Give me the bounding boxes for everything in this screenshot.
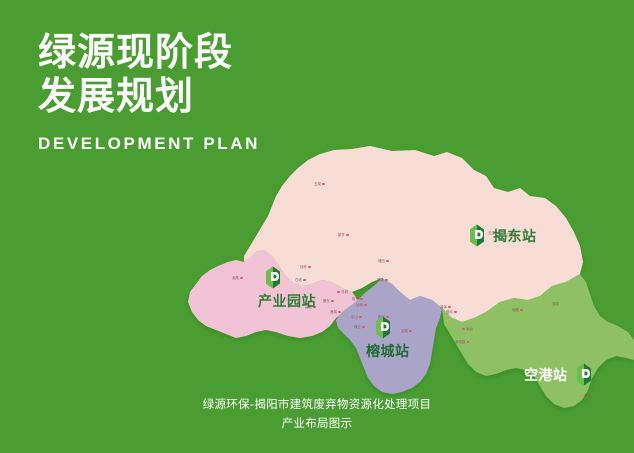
town-label: 榕东 [352,297,363,301]
town-dot-icon [454,311,457,314]
caption-line-1: 绿源环保-揭阳市建筑废弃物资源化处理项目 [0,395,634,414]
town-label-text: 磐东 [323,299,330,303]
station-marker-jiedong[interactable]: 揭东站 [468,224,537,247]
lvyuan-logo-icon [374,316,392,339]
town-dot-icon [448,306,451,309]
town-label: 中山 [351,315,362,319]
town-dot-icon [385,279,388,282]
town-label: 磐东 [323,299,334,303]
town-label: 玉湖 [314,182,325,186]
town-label-text: 梅云 [354,325,361,329]
town-label-text: 锡场 [377,278,384,282]
subtitle: DEVELOPMENT PLAN [38,134,260,154]
town-dot-icon [240,277,243,280]
town-label: 曲溪 [440,305,451,309]
town-dot-icon [364,304,367,307]
lvyuan-logo-icon [264,266,282,289]
town-label: 渔湖 [330,310,341,314]
town-dot-icon [331,300,334,303]
town-dot-icon [548,303,551,306]
town-dot-icon [359,316,362,319]
town-label: 京冈 [548,302,559,306]
town-dot-icon [386,260,389,263]
town-label-text: 炮台 [466,327,473,331]
station-marker-rongcheng[interactable]: 榕城站 [366,316,410,361]
town-label-text: 玉湖 [314,182,321,186]
caption-block: 绿源环保-揭阳市建筑废弃物资源化处理项目 产业布局图示 [0,395,634,433]
town-label: 梅云 [354,325,365,329]
town-dot-icon [337,291,340,294]
town-dot-icon [362,326,365,329]
town-label: 仙桥 [356,303,367,307]
poster-canvas: 绿源现阶段 发展规划 DEVELOPMENT PLAN 揭东站 产业园站 榕城站… [0,0,634,453]
town-label-text: 曲溪 [440,305,447,309]
caption-line-2: 产业布局图示 [0,414,634,433]
town-label-text: 中山 [351,315,358,319]
station-marker-chanyeyuan[interactable]: 产业园站 [258,266,316,311]
town-label: 地都 [512,308,523,312]
town-dot-icon [462,328,465,331]
town-dot-icon [520,309,523,312]
town-label: 渔湖镇 [455,340,469,344]
town-dot-icon [346,234,349,237]
station-label-konggang: 空港站 [524,365,568,385]
town-dot-icon [338,311,341,314]
town-label-text: 榕东 [352,297,359,301]
station-label-jiedong: 揭东站 [493,226,537,246]
town-dot-icon [467,341,470,344]
town-label: 新亨 [338,233,349,237]
town-label: 登岗 [446,310,457,314]
town-label-text: 新亨 [338,233,345,237]
lvyuan-logo-icon [575,363,593,386]
town-label-text: 埔田 [378,259,385,263]
station-marker-konggang[interactable]: 空港站 [524,363,593,386]
town-label: 龙尾 [232,276,243,280]
town-label-text: 登岗 [446,310,453,314]
town-label-text: 月城 [341,290,348,294]
headline-block: 绿源现阶段 发展规划 DEVELOPMENT PLAN [38,30,260,154]
town-label-text: 仙桥 [356,303,363,307]
station-label-rongcheng: 榕城站 [366,341,410,361]
town-label: 锡场 [377,278,388,282]
town-label: 埔田 [378,259,389,263]
title-line-2: 发展规划 [38,74,260,118]
town-label-text: 地都 [512,308,519,312]
town-label-text: 龙尾 [232,276,239,280]
town-dot-icon [360,298,363,301]
town-label: 炮台 [462,327,473,331]
town-label-text: 渔湖 [330,310,337,314]
town-label-text: 渔湖镇 [455,340,465,344]
station-label-chanyeyuan: 产业园站 [258,291,316,311]
title-line-1: 绿源现阶段 [38,30,260,74]
town-dot-icon [322,183,325,186]
town-dot-icon [409,330,412,333]
town-label-text: 京冈 [552,302,559,306]
town-label: 月城 [337,290,348,294]
lvyuan-logo-icon [468,224,486,247]
